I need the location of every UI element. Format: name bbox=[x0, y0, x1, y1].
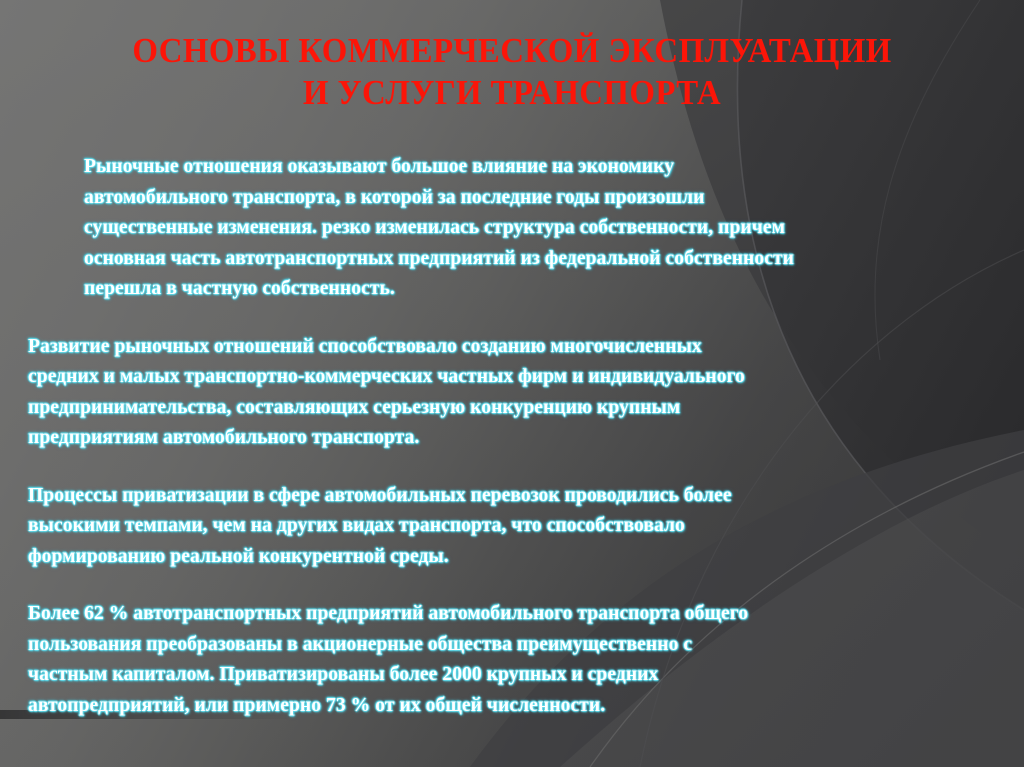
paragraph-3: Процессы приватизации в сфере автомобиль… bbox=[28, 481, 980, 573]
slide-body: Рыночные отношения оказывают большое вли… bbox=[28, 152, 980, 721]
paragraph-line: Более 62 % автотранспортных предприятий … bbox=[28, 599, 980, 630]
paragraph-2: Развитие рыночных отношений способствова… bbox=[28, 332, 980, 454]
paragraph-line: существенные изменения. резко изменилась… bbox=[28, 213, 980, 244]
presentation-slide: ОСНОВЫ КОММЕРЧЕСКОЙ ЭКСПЛУАТАЦИИ И УСЛУГ… bbox=[0, 0, 1024, 767]
paragraph-line: основная часть автотранспортных предприя… bbox=[28, 244, 980, 275]
paragraph-line: пользования преобразованы в акционерные … bbox=[28, 630, 980, 661]
paragraph-line: предпринимательства, составляющих серьез… bbox=[28, 393, 980, 424]
slide-title: ОСНОВЫ КОММЕРЧЕСКОЙ ЭКСПЛУАТАЦИИ И УСЛУГ… bbox=[0, 30, 1024, 114]
paragraph-line: Рыночные отношения оказывают большое вли… bbox=[28, 152, 980, 183]
paragraph-line: формированию реальной конкурентной среды… bbox=[28, 542, 980, 573]
paragraph-line: перешла в частную собственность. bbox=[28, 274, 980, 305]
paragraph-line: автопредприятий, или примерно 73 % от их… bbox=[28, 691, 980, 722]
paragraph-line: частным капиталом. Приватизированы более… bbox=[28, 660, 980, 691]
paragraph-4: Более 62 % автотранспортных предприятий … bbox=[28, 599, 980, 721]
title-line-2: И УСЛУГИ ТРАНСПОРТА bbox=[31, 72, 994, 114]
paragraph-line: высокими темпами, чем на других видах тр… bbox=[28, 511, 980, 542]
paragraph-line: средних и малых транспортно-коммерческих… bbox=[28, 362, 980, 393]
title-line-1: ОСНОВЫ КОММЕРЧЕСКОЙ ЭКСПЛУАТАЦИИ bbox=[31, 30, 994, 72]
paragraph-line: автомобильного транспорта, в которой за … bbox=[28, 183, 980, 214]
paragraph-1: Рыночные отношения оказывают большое вли… bbox=[28, 152, 980, 305]
paragraph-line: Развитие рыночных отношений способствова… bbox=[28, 332, 980, 363]
paragraph-line: предприятиям автомобильного транспорта. bbox=[28, 423, 980, 454]
paragraph-line: Процессы приватизации в сфере автомобиль… bbox=[28, 481, 980, 512]
